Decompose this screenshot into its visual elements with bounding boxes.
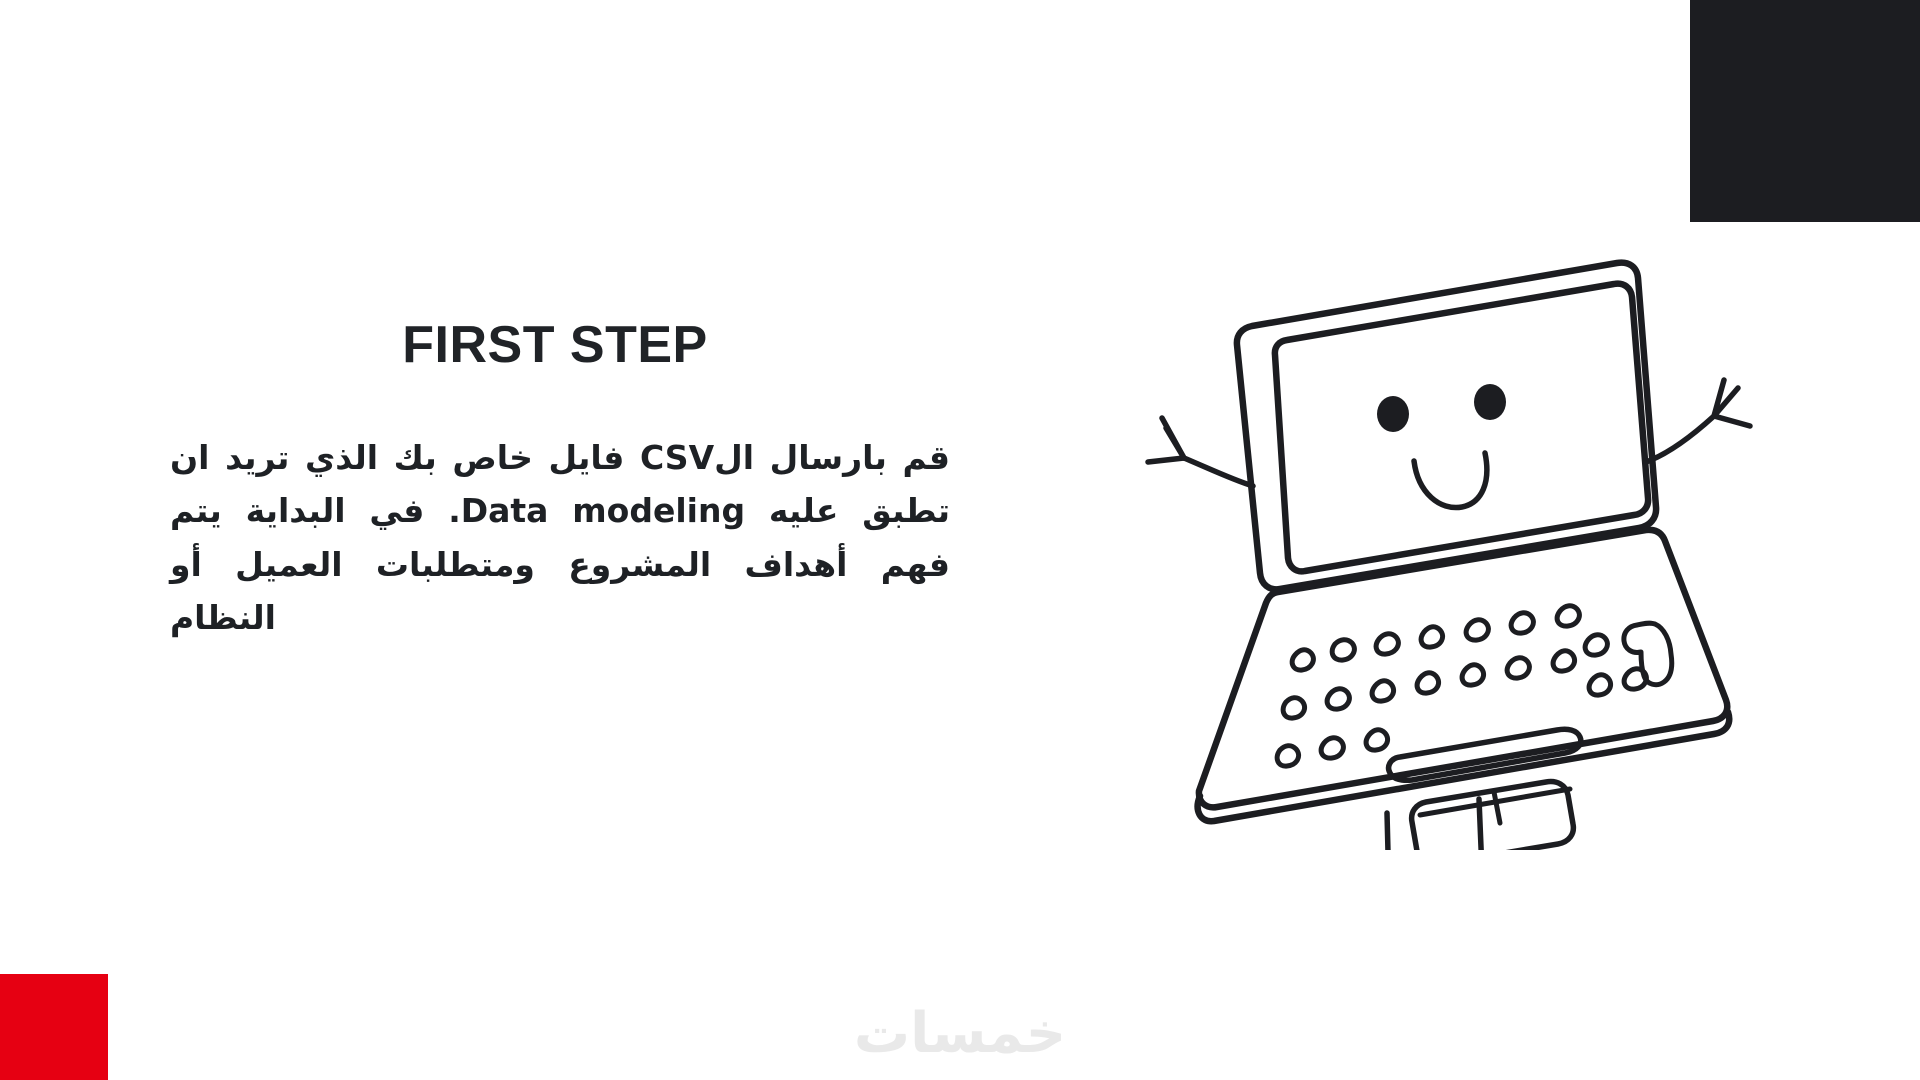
- text-column: FIRST STEP قم بارسال الCSV فايل خاص بك ا…: [160, 318, 950, 644]
- eye-right-icon: [1474, 384, 1506, 420]
- laptop-character-illustration: [1090, 230, 1830, 850]
- watermark-khamsat: خمسات: [0, 1001, 1920, 1066]
- top-right-dark-block: [1690, 0, 1920, 222]
- eye-left-icon: [1377, 396, 1409, 432]
- leg-left: [1387, 813, 1390, 850]
- body-paragraph: قم بارسال الCSV فايل خاص بك الذي تريد ان…: [160, 431, 950, 645]
- presentation-slide: FIRST STEP قم بارسال الCSV فايل خاص بك ا…: [0, 0, 1920, 1080]
- trackpad-divider: [1494, 792, 1500, 823]
- smile-icon: [1414, 453, 1487, 508]
- arm-left-icon: [1148, 418, 1253, 486]
- laptop-screen-inner: [1275, 284, 1648, 572]
- arm-right-icon: [1646, 380, 1750, 462]
- page-title: FIRST STEP: [160, 318, 950, 373]
